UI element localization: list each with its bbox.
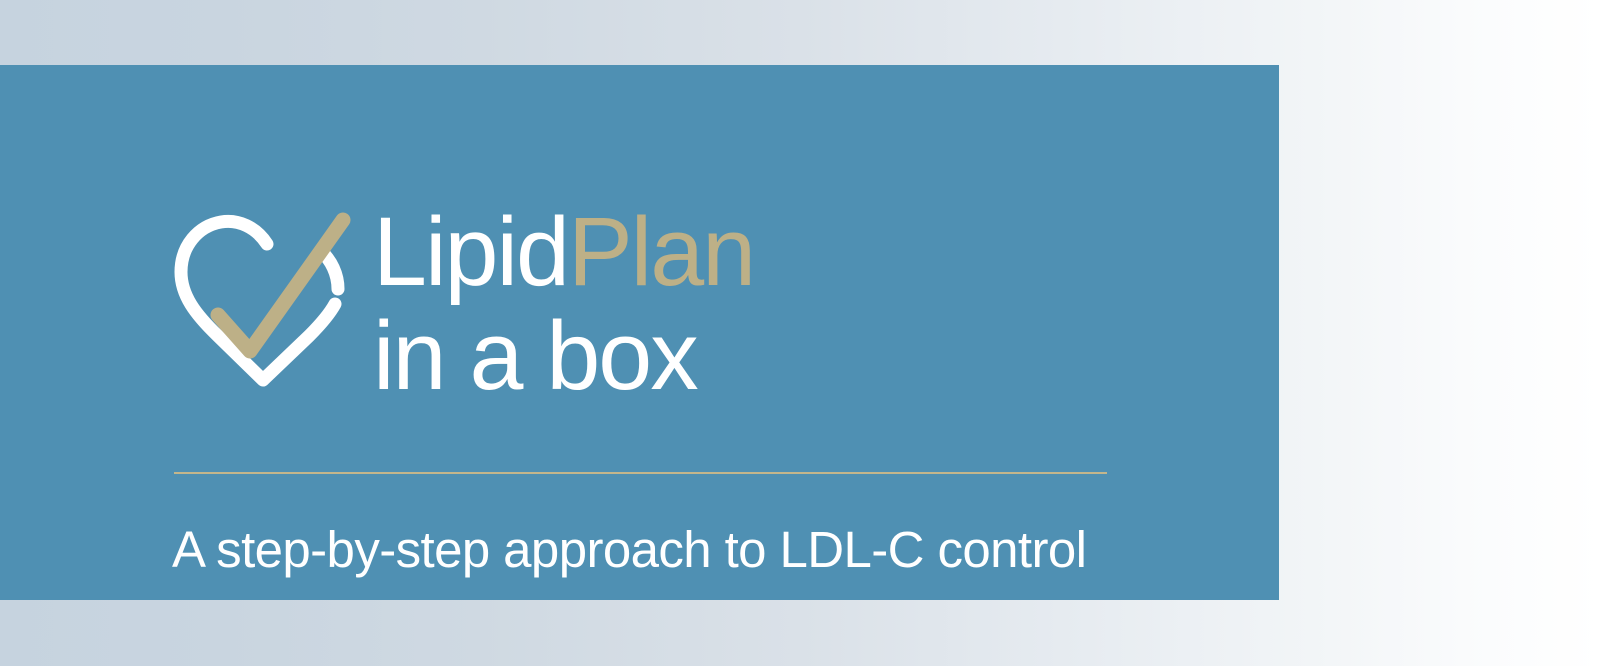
wordmark-line-2: in a box <box>373 304 873 408</box>
gold-divider-rule <box>174 472 1107 474</box>
wordmark-line-1: LipidPlan <box>373 200 873 304</box>
logo-lockup: LipidPlan in a box <box>170 150 870 420</box>
wordmark: LipidPlan in a box <box>373 200 873 408</box>
heart-with-checkmark-icon <box>170 208 356 408</box>
slide-canvas: LipidPlan in a box A step-by-step approa… <box>0 0 1600 666</box>
tagline: A step-by-step approach to LDL-C control <box>172 520 1172 580</box>
brand-panel: LipidPlan in a box A step-by-step approa… <box>0 65 1279 600</box>
wordmark-lipid: Lipid <box>373 197 568 306</box>
wordmark-plan: Plan <box>568 197 754 306</box>
